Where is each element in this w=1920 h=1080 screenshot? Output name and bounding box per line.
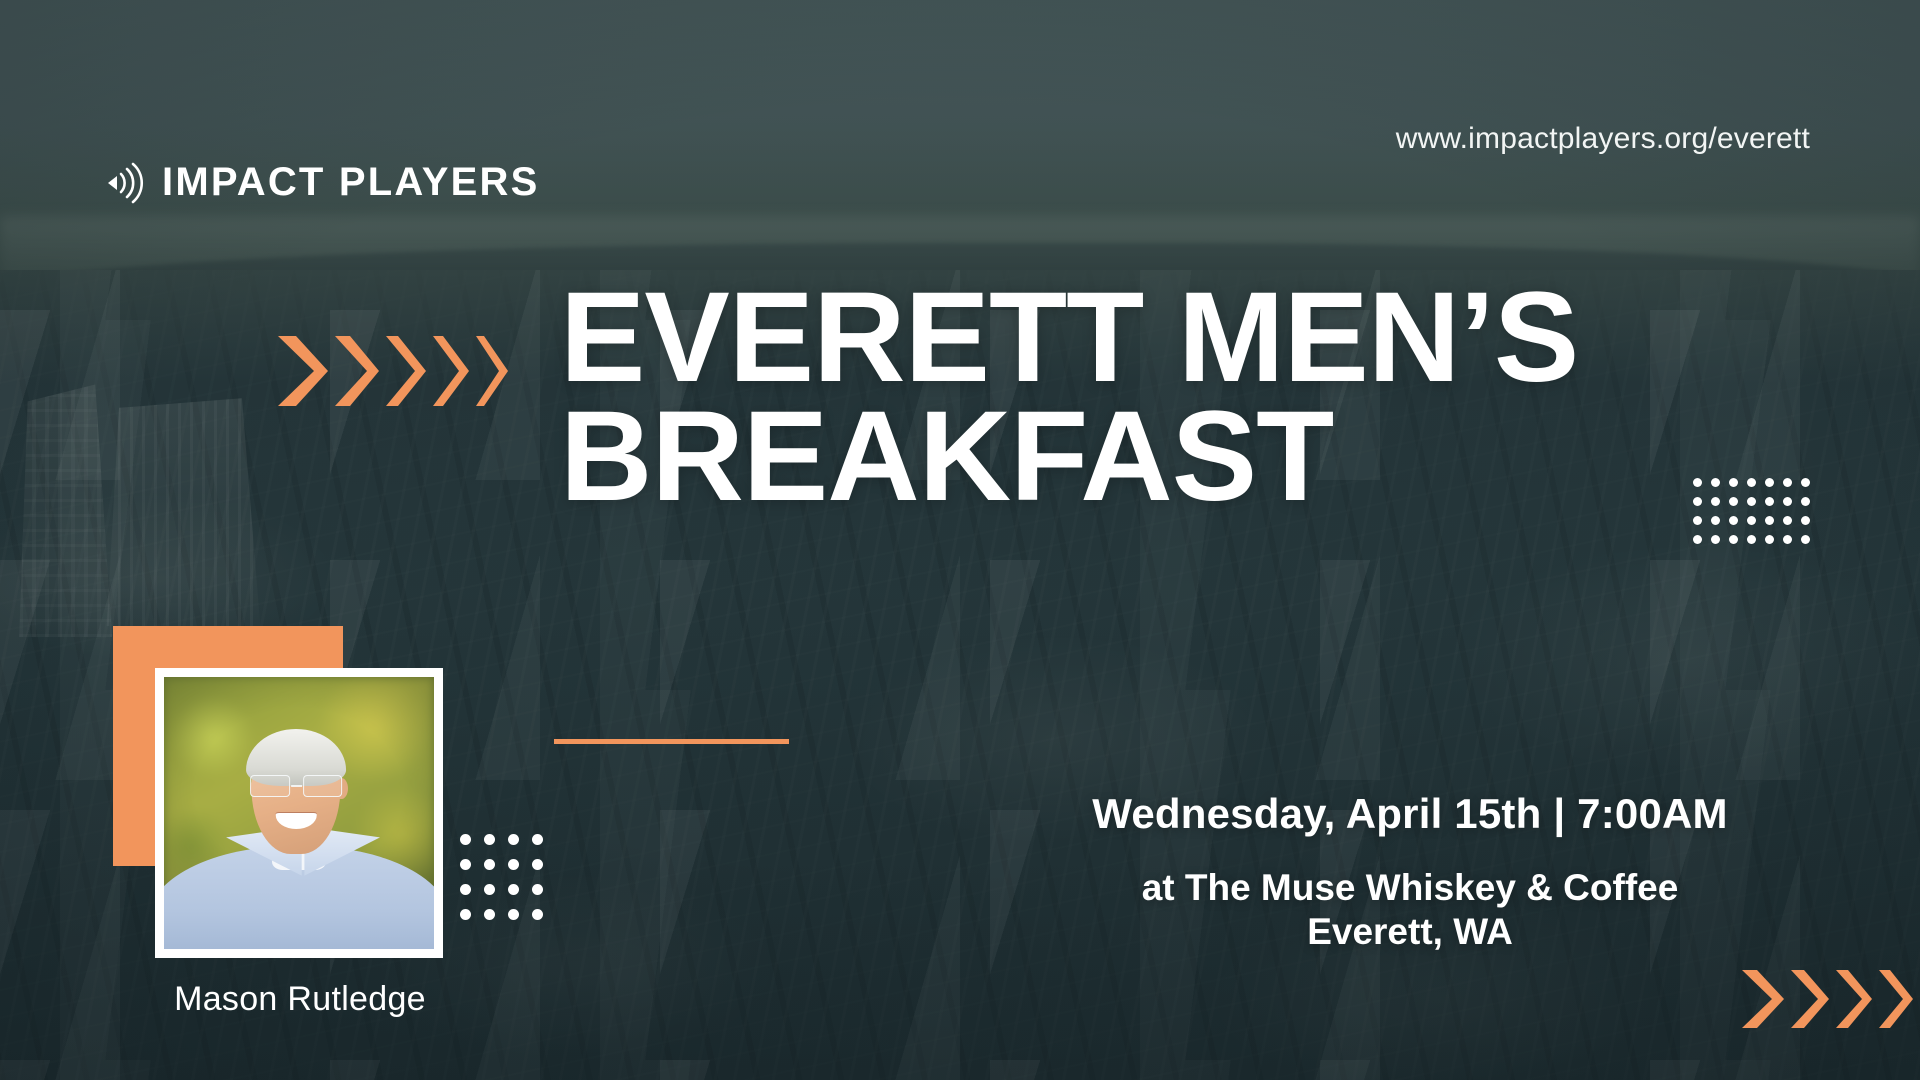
website-url[interactable]: www.impactplayers.org/everett xyxy=(1396,122,1810,156)
orange-divider xyxy=(554,739,789,744)
dot-grid-left xyxy=(460,834,556,934)
chevron-group-title xyxy=(276,334,510,408)
chevron-right-icon xyxy=(1834,968,1874,1030)
event-details: Wednesday, April 15th | 7:00AM at The Mu… xyxy=(960,790,1860,953)
speaker-name: Mason Rutledge xyxy=(155,980,445,1019)
event-poster: IMPACT PLAYERS www.impactplayers.org/eve… xyxy=(0,0,1920,1080)
eyeglasses-icon xyxy=(250,775,342,797)
brand-logo[interactable]: IMPACT PLAYERS xyxy=(104,160,540,205)
speaker-photo xyxy=(164,677,434,949)
chevron-right-icon xyxy=(1789,968,1831,1030)
chevron-right-icon xyxy=(474,334,510,408)
chevron-right-icon xyxy=(384,334,428,408)
headline-line-1: EVERETT MEN’S xyxy=(560,278,1578,397)
event-datetime: Wednesday, April 15th | 7:00AM xyxy=(960,790,1860,838)
headline-line-2: BREAKFAST xyxy=(560,397,1578,516)
chevron-right-icon xyxy=(431,334,471,408)
event-venue-line-1: at The Muse Whiskey & Coffee xyxy=(960,866,1860,910)
chevron-right-icon xyxy=(1740,968,1786,1030)
brand-logo-text: IMPACT PLAYERS xyxy=(162,160,540,205)
speaker-photo-frame xyxy=(155,668,443,958)
chevron-group-bottom xyxy=(1740,968,1920,1030)
chevron-right-icon xyxy=(1877,968,1915,1030)
broadcast-signal-icon xyxy=(104,161,148,205)
chevron-right-icon xyxy=(276,334,330,408)
chevron-right-icon xyxy=(333,334,381,408)
event-venue-line-2: Everett, WA xyxy=(960,910,1860,954)
dot-grid-right xyxy=(1693,478,1819,554)
page-title: EVERETT MEN’S BREAKFAST xyxy=(560,278,1578,516)
